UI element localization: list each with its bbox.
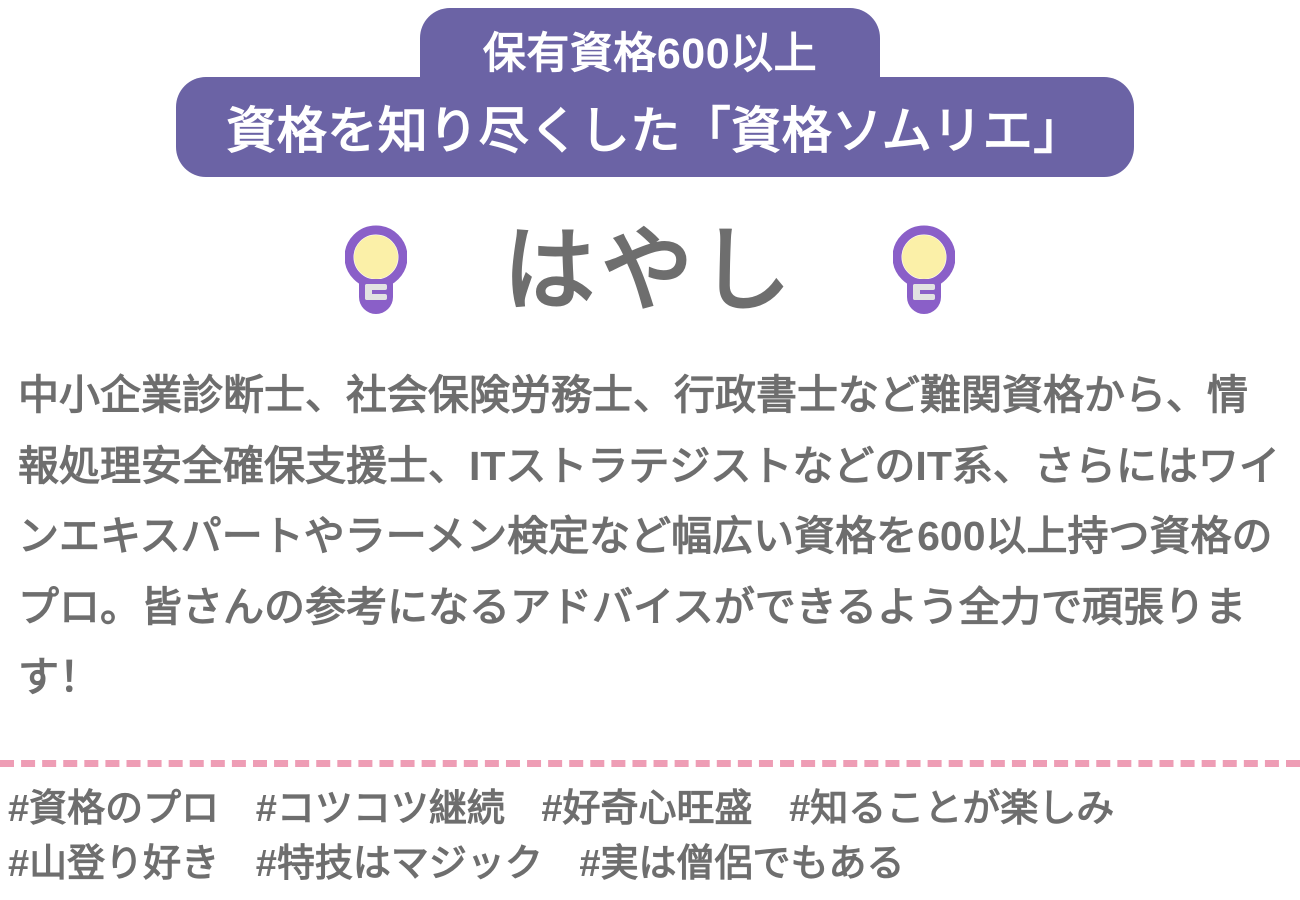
hashtag-item[interactable]: #実は僧侶でもある <box>579 843 904 885</box>
hashtag-item[interactable]: #知ることが楽しみ <box>789 788 1114 830</box>
lightbulb-icon-right <box>893 221 955 322</box>
lightbulb-icon-left <box>345 221 407 322</box>
hashtag-item[interactable]: #特技はマジック <box>256 843 543 885</box>
hashtag-item[interactable]: #好奇心旺盛 <box>541 788 752 830</box>
hashtag-list: #資格のプロ #コツコツ継続 #好奇心旺盛 #知ることが楽しみ #山登り好き #… <box>8 782 1298 892</box>
header-badge: 保有資格600以上 資格を知り尽くした「資格ソムリエ」 <box>0 0 1300 188</box>
dashed-divider <box>0 760 1300 767</box>
hashtag-item[interactable]: #資格のプロ <box>8 788 219 830</box>
badge-headline-secondary: 資格を知り尽くした「資格ソムリエ」 <box>176 80 1134 174</box>
profile-name: はやし <box>503 225 797 317</box>
profile-bio: 中小企業診断士、社会保険労務士、行政書士など難関資格から、情報処理安全確保支援士… <box>18 360 1282 713</box>
hashtag-item[interactable]: #コツコツ継続 <box>256 788 505 830</box>
hashtag-item[interactable]: #山登り好き <box>8 843 219 885</box>
profile-name-row: はやし <box>0 196 1300 346</box>
